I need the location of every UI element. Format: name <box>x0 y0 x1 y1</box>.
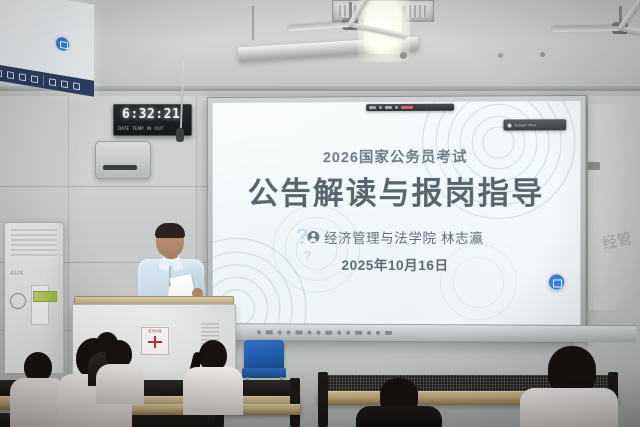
antenna-cap <box>176 128 184 142</box>
clock-label-date: DATE <box>118 126 129 131</box>
toolbar-icon[interactable] <box>31 75 38 83</box>
rail-button[interactable] <box>346 331 350 335</box>
ac-energy-label <box>33 291 57 302</box>
rail-button[interactable] <box>385 331 392 335</box>
crest-label: 经济管理 <box>142 329 168 333</box>
presenter-text: 经济管理与法学院 林志瀛 <box>324 227 483 247</box>
clock-label-in: IN <box>147 126 152 131</box>
display-cast-icon[interactable] <box>549 274 564 289</box>
student-body <box>356 406 442 427</box>
ceiling-fan <box>545 18 640 46</box>
rail-button[interactable] <box>355 331 362 335</box>
student-body <box>96 364 144 404</box>
student-seated <box>520 346 618 427</box>
board-clip <box>588 162 600 170</box>
clock-label-out: OUT <box>154 126 163 131</box>
fan-blade <box>349 22 407 39</box>
student-head <box>548 346 596 394</box>
rail-button[interactable] <box>257 330 261 334</box>
presenter-hair <box>155 223 185 238</box>
rail-button[interactable] <box>287 330 291 334</box>
classroom-scene: 6:32:21 DATE TEMP IN OUT AUX 经管 <box>0 0 640 427</box>
light-rod <box>252 6 254 40</box>
interactive-whiteboard[interactable]: Smart Pen ? ? 2026国家公务员考试 公告解读与报岗指导 经济管理… <box>207 95 587 343</box>
student-seated <box>96 340 144 400</box>
slide-text-block: ? ? 2026国家公务员考试 公告解读与报岗指导 经济管理与法学院 林志瀛 2… <box>213 101 581 326</box>
toolbar-icon[interactable] <box>19 73 26 81</box>
presentation-slide: Smart Pen ? ? 2026国家公务员考试 公告解读与报岗指导 经济管理… <box>213 101 581 326</box>
toolbar-icon[interactable] <box>7 71 14 79</box>
slide-headline: 公告解读与报岗指导 <box>213 168 581 213</box>
ceiling-beam <box>0 86 640 91</box>
rail-button[interactable] <box>296 330 303 334</box>
side-whiteboard-panel: 经管 <box>586 104 640 310</box>
rail-button[interactable] <box>367 331 371 335</box>
slide-kicker: 2026国家公务员考试 <box>213 145 581 167</box>
display-cast-icon[interactable] <box>56 36 69 51</box>
rail-button[interactable] <box>376 331 380 335</box>
toolbar-icon[interactable] <box>73 82 80 90</box>
ceiling-fan <box>290 14 410 40</box>
rail-button[interactable] <box>266 330 273 334</box>
slide-presenter-line: 经济管理与法学院 林志瀛 <box>213 227 581 247</box>
user-avatar-icon <box>307 231 319 243</box>
rail-button[interactable] <box>337 331 341 335</box>
toolbar-icon[interactable] <box>49 78 56 86</box>
student-seated <box>356 378 442 427</box>
slide-date: 2025年10月16日 <box>213 254 581 275</box>
wall-fitting <box>400 52 407 59</box>
board-scrawl: 经管 <box>600 227 634 254</box>
ac-grille <box>11 229 57 259</box>
wall-fitting <box>498 53 503 58</box>
rail-button[interactable] <box>316 331 320 335</box>
rail-button[interactable] <box>278 330 282 334</box>
wall-fitting <box>540 52 545 57</box>
rail-button[interactable] <box>325 331 332 335</box>
student-body <box>520 388 618 427</box>
toolbar-icon[interactable] <box>0 69 2 77</box>
student-seated <box>183 340 243 410</box>
fan-blade <box>288 22 350 31</box>
desk-end-panel <box>318 372 328 427</box>
ac-certification-badge <box>10 293 26 309</box>
whiteboard-display[interactable]: Smart Pen ? ? 2026国家公务员考试 公告解读与报岗指导 经济管理… <box>213 101 581 326</box>
institution-crest-icon: 经济管理 <box>141 327 169 355</box>
rail-button[interactable] <box>307 331 311 335</box>
chair-back <box>244 340 284 370</box>
wall-speaker <box>95 141 151 179</box>
student-body <box>183 367 243 415</box>
clock-time: 6:32:21 <box>122 108 188 121</box>
fan-stem <box>619 6 622 22</box>
toolbar-icon[interactable] <box>61 80 68 88</box>
clock-label-temp: TEMP <box>132 126 144 131</box>
desk-end-panel <box>290 378 300 427</box>
fan-blade <box>552 26 620 32</box>
ac-brand-mark: AUX <box>10 271 24 277</box>
